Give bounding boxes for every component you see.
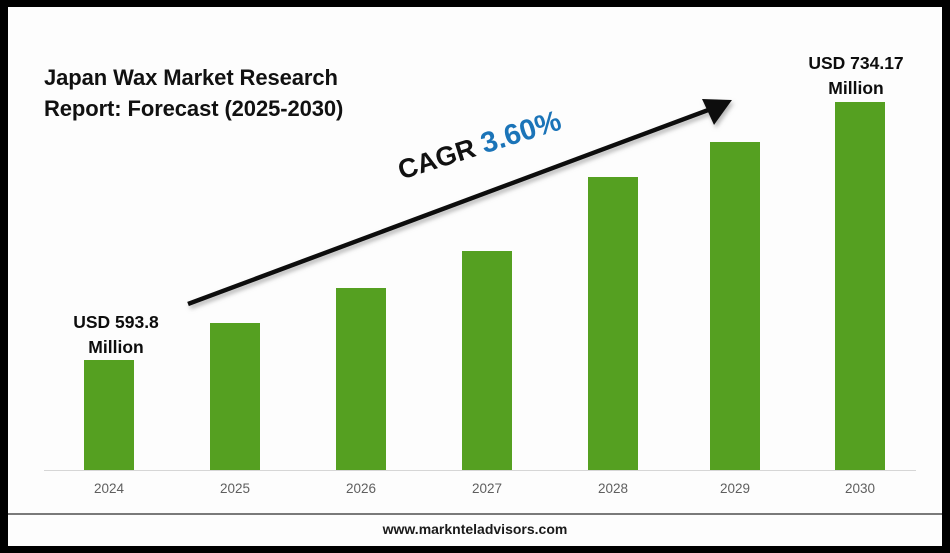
bar-2025[interactable] (210, 323, 260, 470)
end-value-callout: USD 734.17 Million (776, 51, 936, 100)
tick-label-2024: 2024 (74, 481, 144, 496)
footer-divider (8, 513, 942, 515)
chart-frame: Japan Wax Market Research Report: Foreca… (0, 0, 950, 553)
x-axis-line (44, 470, 916, 471)
bar-2024[interactable] (84, 360, 134, 470)
bar-2028[interactable] (588, 177, 638, 470)
tick-label-2027: 2027 (452, 481, 522, 496)
cagr-value-text: 3.60% (477, 105, 565, 160)
bar-2027[interactable] (462, 251, 512, 470)
tick-label-2028: 2028 (578, 481, 648, 496)
cagr-annotation: CAGR 3.60% (394, 105, 565, 187)
tick-label-2025: 2025 (200, 481, 270, 496)
tick-label-2029: 2029 (700, 481, 770, 496)
chart-canvas: Japan Wax Market Research Report: Foreca… (8, 7, 942, 546)
bar-2026[interactable] (336, 288, 386, 470)
bar-2029[interactable] (710, 142, 760, 470)
chart-title: Japan Wax Market Research Report: Foreca… (44, 62, 343, 124)
start-value-callout: USD 593.8 Million (52, 310, 180, 359)
tick-label-2026: 2026 (326, 481, 396, 496)
bar-2030[interactable] (835, 102, 885, 470)
footer-bar: www.marknteladvisors.com (8, 513, 942, 546)
footer-url: www.marknteladvisors.com (8, 521, 942, 537)
tick-label-2030: 2030 (825, 481, 895, 496)
cagr-prefix-text: CAGR (394, 133, 479, 186)
plot-area: Japan Wax Market Research Report: Foreca… (8, 7, 942, 513)
